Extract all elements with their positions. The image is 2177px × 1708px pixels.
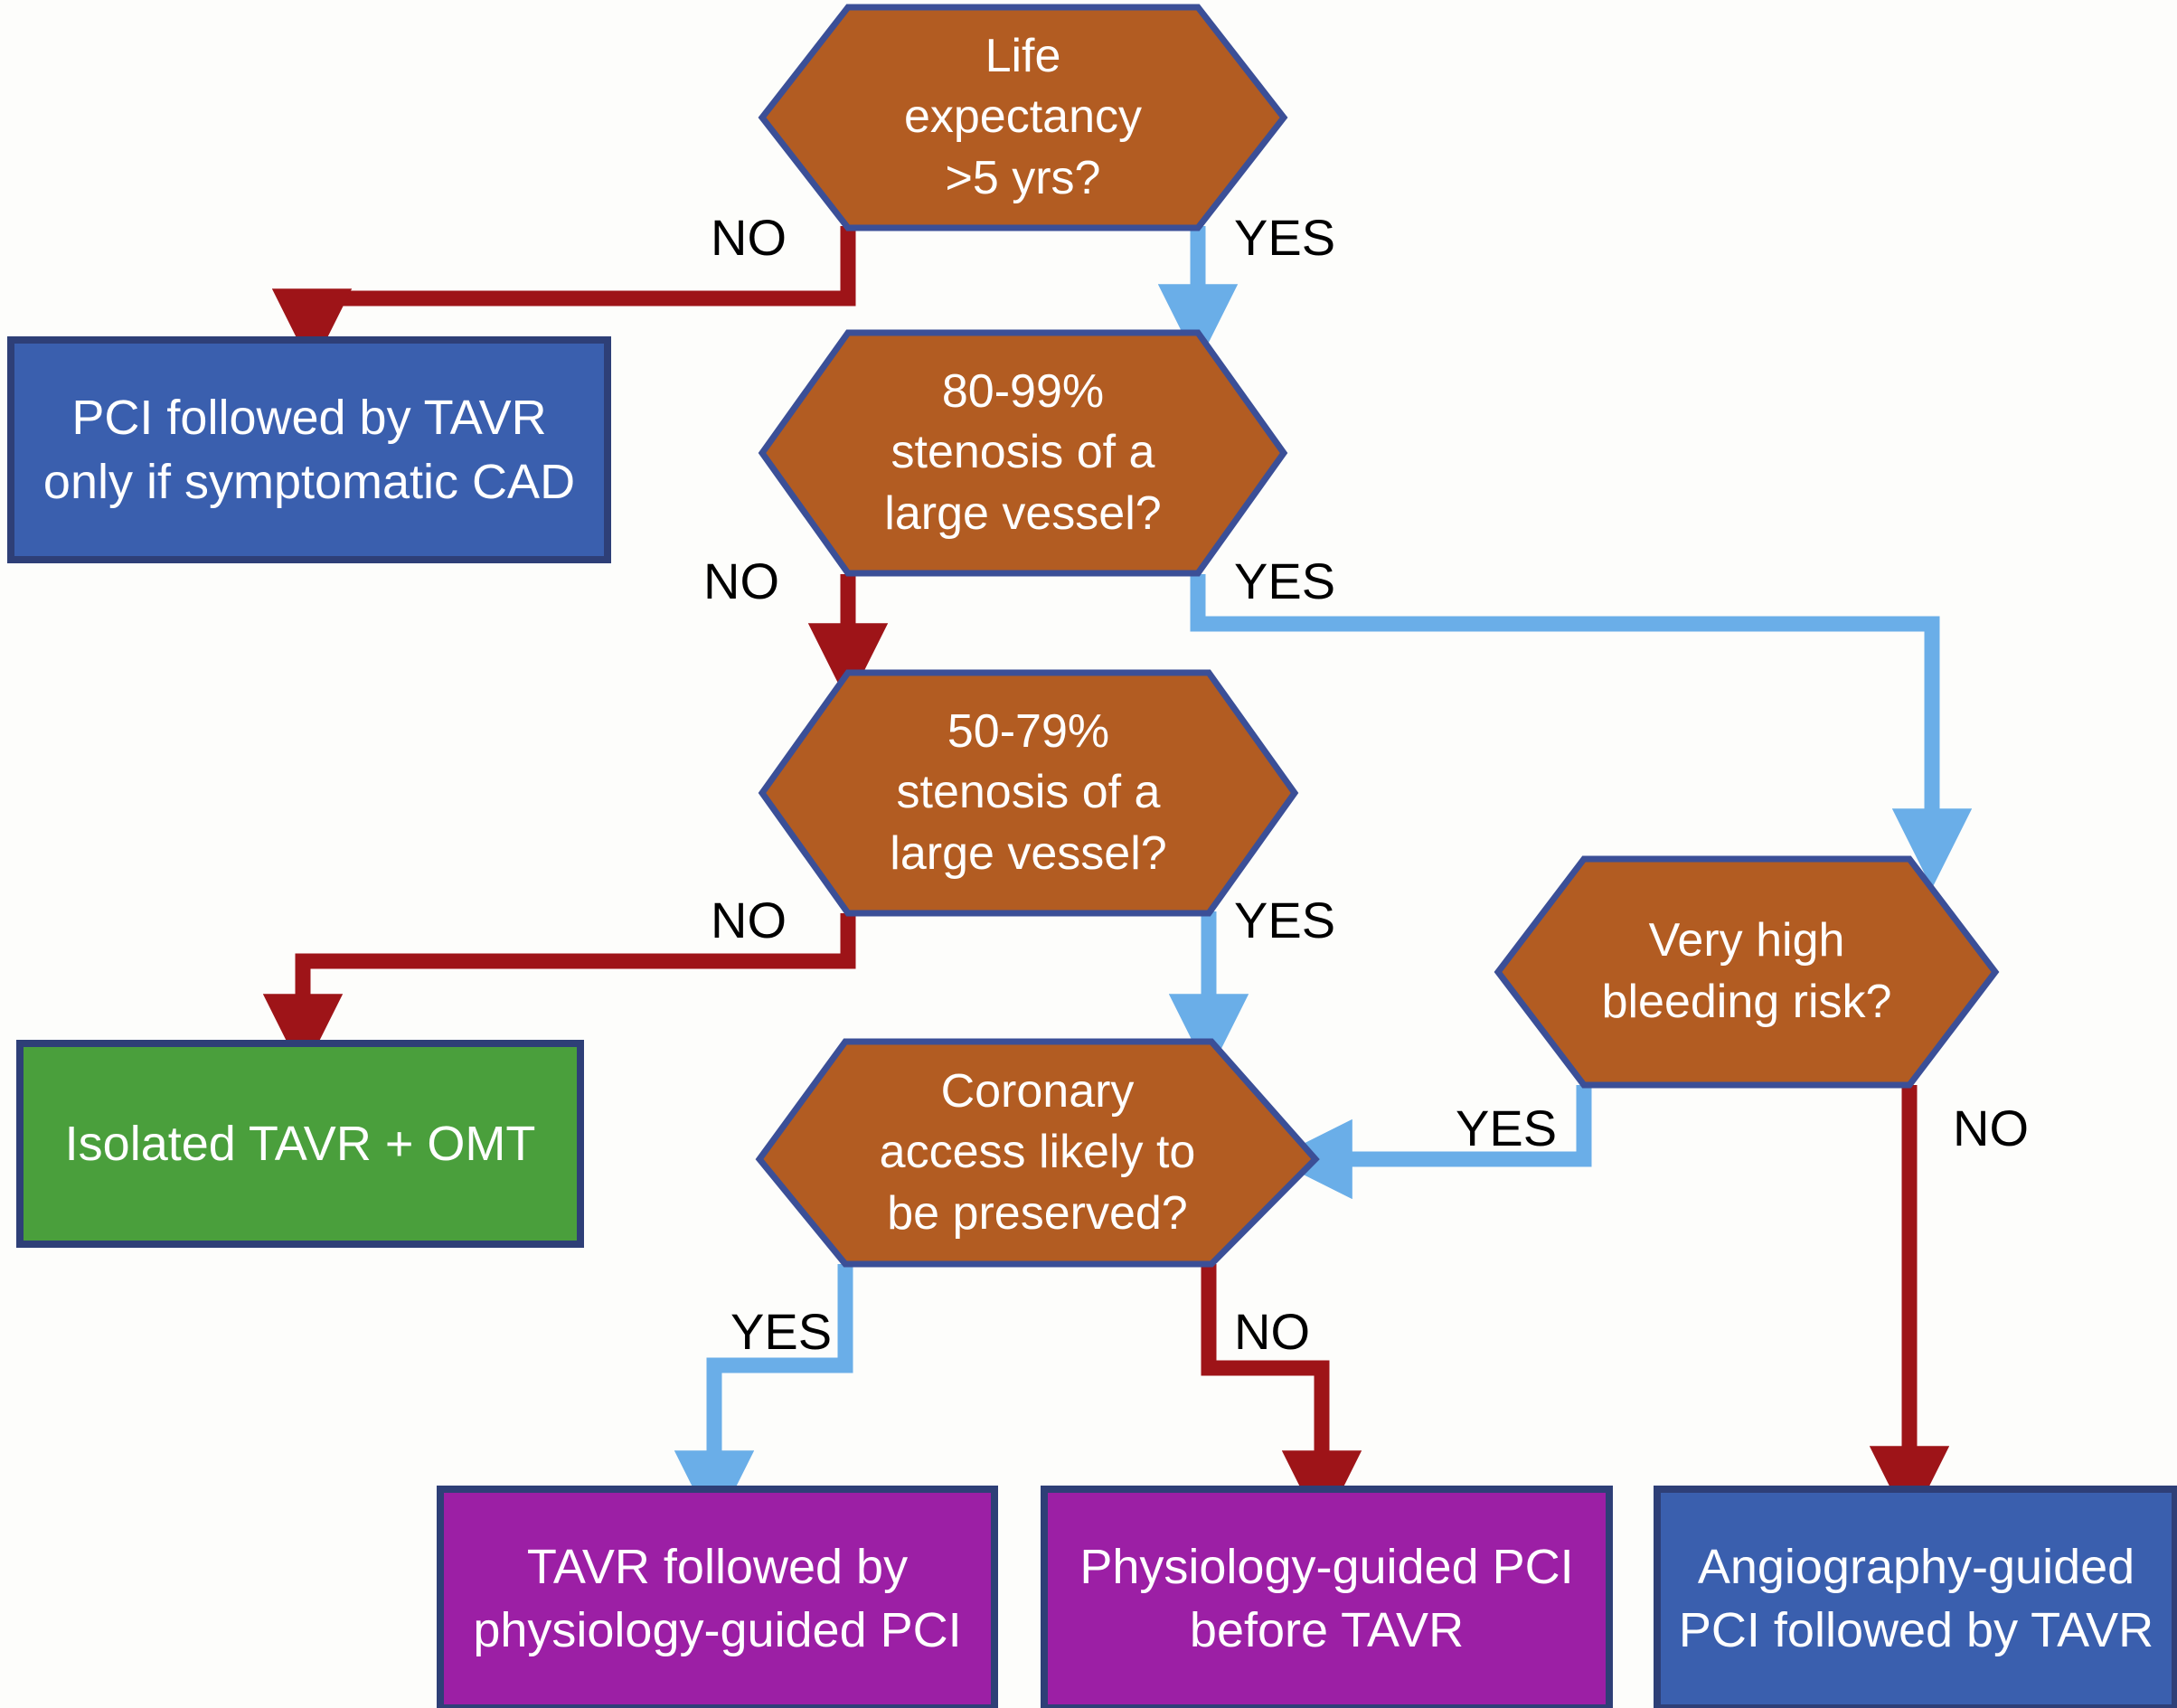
node-stenosis-80-99[interactable] [762, 333, 1284, 573]
flowchart-canvas: Life expectancy >5 yrs? 80-99% stenosis … [0, 0, 2177, 1708]
edge-label-yes-stenosis-80-99: YES [1234, 552, 1335, 610]
flowchart-svg [0, 0, 2177, 1708]
edge-label-no-coronary-access: NO [1234, 1302, 1310, 1361]
node-group [11, 7, 2175, 1708]
edge-label-yes-bleeding-risk: YES [1456, 1099, 1557, 1157]
edge-label-no-bleeding-risk: NO [1953, 1099, 2029, 1157]
edge-yes-stenosis-80-99 [1198, 574, 1932, 845]
node-tavr-then-pci[interactable] [440, 1489, 994, 1708]
edge-label-yes-coronary-access: YES [730, 1302, 832, 1361]
node-angio-pci-tavr[interactable] [1657, 1489, 2175, 1708]
edge-label-yes-stenosis-50-79: YES [1234, 891, 1335, 949]
edge-no-coronary-access [1209, 1264, 1322, 1487]
node-life-expectancy[interactable] [762, 7, 1284, 228]
edge-label-no-stenosis-80-99: NO [703, 552, 779, 610]
node-pci-before-tavr[interactable] [1044, 1489, 1609, 1708]
node-pci-then-tavr[interactable] [11, 340, 608, 560]
edge-label-no-life-expectancy: NO [711, 208, 787, 267]
node-isolated-tavr[interactable] [20, 1043, 580, 1244]
node-coronary-access[interactable] [759, 1042, 1315, 1264]
edge-yes-coronary-access [714, 1264, 845, 1487]
edge-label-no-stenosis-50-79: NO [711, 891, 787, 949]
node-stenosis-50-79[interactable] [762, 673, 1295, 913]
node-bleeding-risk[interactable] [1498, 859, 1995, 1085]
edge-label-yes-life-expectancy: YES [1234, 208, 1335, 267]
